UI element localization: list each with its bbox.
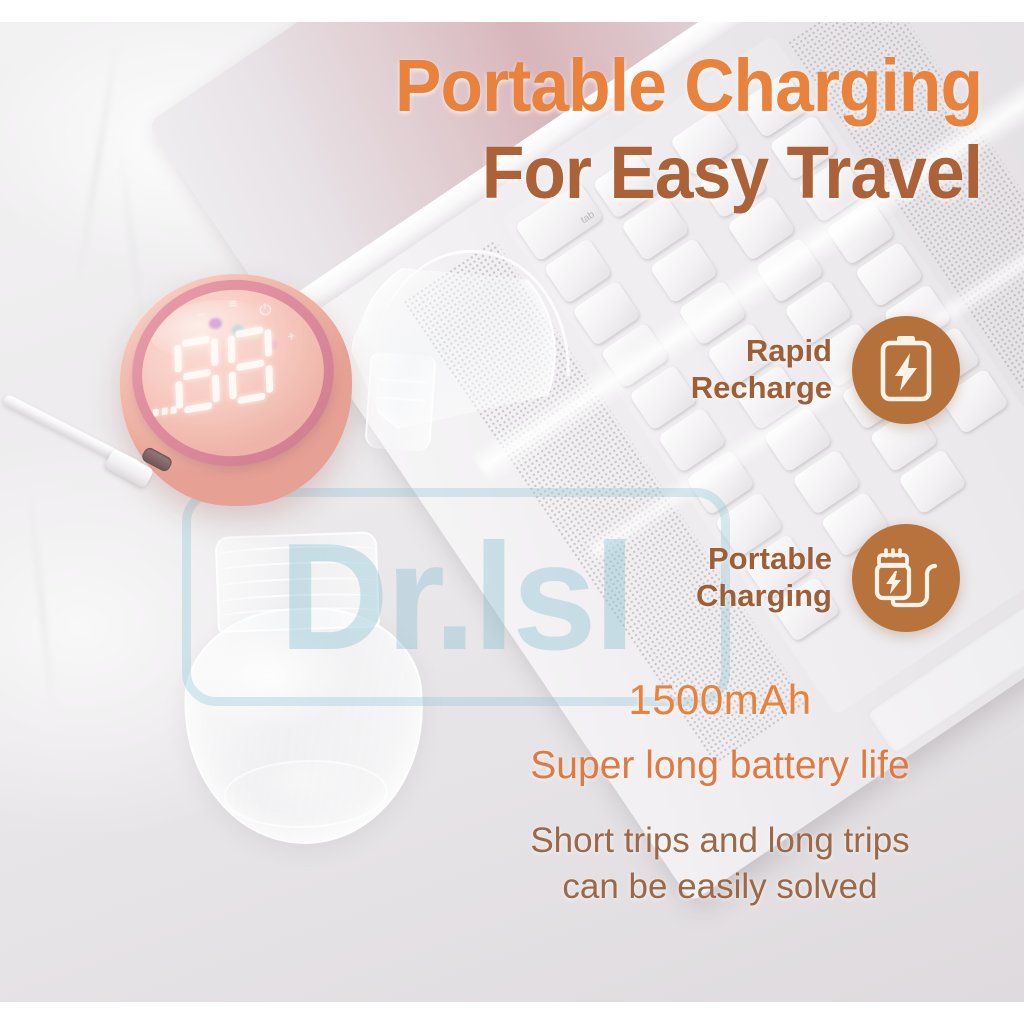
- headline-line-2: For Easy Travel: [59, 135, 982, 210]
- battery-detail-line-2: can be easily solved: [448, 864, 992, 910]
- motor-unit: − ≋ ⏻ +: [120, 274, 352, 506]
- battery-capacity: 1500mAh: [448, 676, 992, 724]
- level-bar: [170, 406, 176, 414]
- battery-subtitle: Super long battery life: [448, 744, 992, 788]
- feature-rapid-recharge: Rapid Recharge: [636, 316, 960, 424]
- led-digit: [226, 325, 274, 407]
- feature-label: Portable Charging: [636, 541, 832, 614]
- battery-detail-line-1: Short trips and long trips: [448, 818, 992, 864]
- minus-icon[interactable]: −: [197, 307, 206, 321]
- level-bar: [153, 409, 159, 417]
- feature-label-line-2: Charging: [636, 578, 832, 615]
- power-bank-cable-icon: [873, 544, 939, 613]
- mode-icon[interactable]: ≋: [228, 299, 239, 311]
- bottle-thread: [219, 605, 377, 623]
- product-marketing-image: tab: [0, 0, 1024, 1024]
- bottle-thread: [218, 575, 376, 593]
- funnel-ridge: [376, 396, 426, 401]
- bottom-letterbox-band: [0, 1002, 1024, 1024]
- feature-label-line-2: Recharge: [636, 370, 832, 407]
- collection-bottle: [173, 526, 432, 846]
- feature-badge: [852, 524, 960, 632]
- feature-label: Rapid Recharge: [636, 333, 832, 406]
- feature-badge: [852, 316, 960, 424]
- battery-bolt-icon: [877, 334, 935, 407]
- bottle-neck: [215, 531, 380, 633]
- plus-icon[interactable]: +: [287, 329, 296, 343]
- bottle-thread: [217, 543, 375, 561]
- funnel-ridge: [377, 378, 427, 383]
- top-letterbox-band: [0, 0, 1024, 22]
- led-digit: [173, 334, 221, 416]
- headline-line-1: Portable Charging: [59, 48, 982, 123]
- bottle-thread: [218, 559, 376, 577]
- battery-detail: Short trips and long trips can be easily…: [448, 818, 992, 910]
- funnel-neck: [364, 352, 437, 452]
- power-icon[interactable]: ⏻: [259, 302, 273, 319]
- battery-copy-block: 1500mAh Super long battery life Short tr…: [448, 676, 992, 910]
- feature-label-line-1: Portable: [636, 541, 832, 578]
- feature-label-line-1: Rapid: [636, 333, 832, 370]
- headline: Portable Charging For Easy Travel: [0, 48, 1008, 211]
- feature-portable-charging: Portable Charging: [636, 524, 960, 632]
- bottle-thread: [219, 591, 377, 609]
- level-bar: [162, 407, 168, 415]
